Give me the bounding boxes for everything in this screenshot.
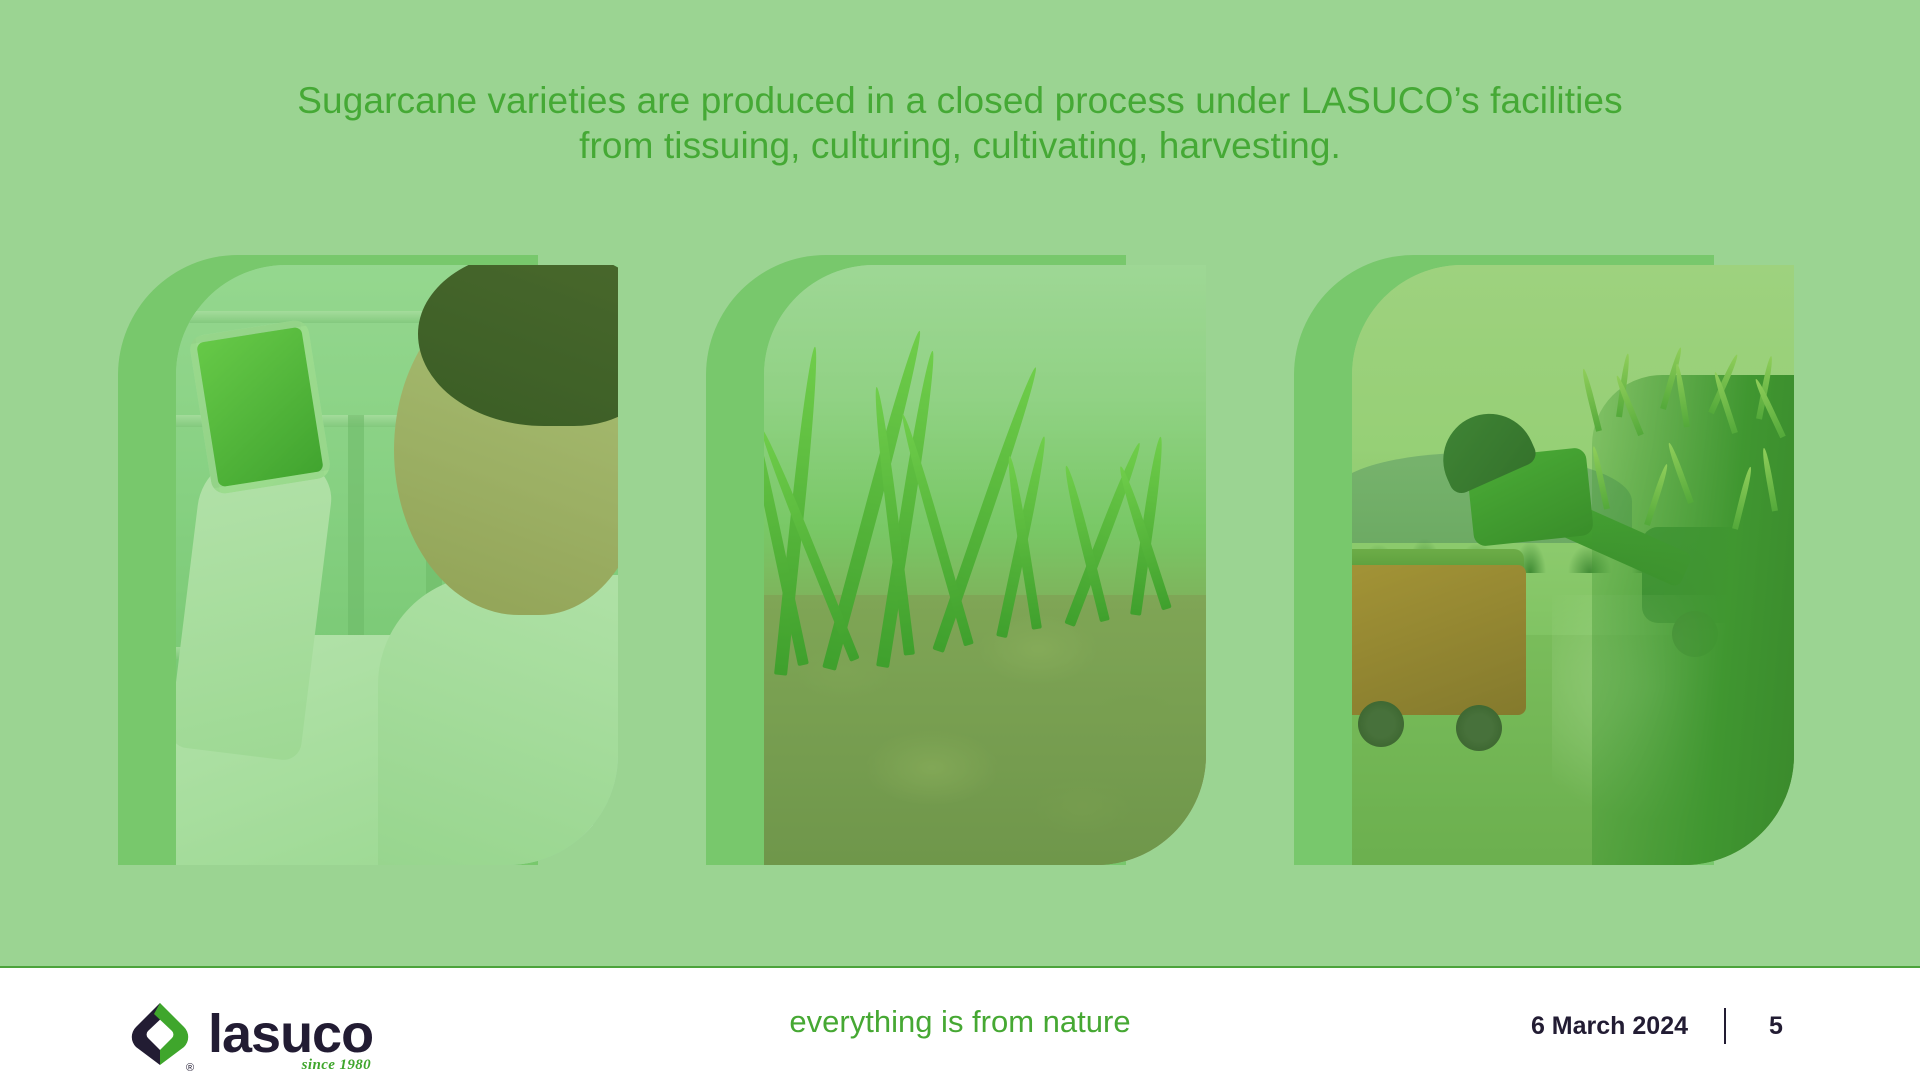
green-overlay-tint	[1352, 265, 1794, 865]
photo-harvesting	[1352, 265, 1794, 865]
image-card-tissuing[interactable]	[118, 255, 618, 865]
green-overlay-tint	[176, 265, 618, 865]
footer-date: 6 March 2024	[1531, 1012, 1688, 1041]
registered-mark: ®	[186, 1062, 194, 1074]
since-1980-label: since 1980	[302, 1057, 371, 1074]
page-number: 5	[1762, 1012, 1790, 1041]
page-title-line-1: Sugarcane varieties are produced in a cl…	[260, 78, 1660, 123]
image-card-harvesting[interactable]	[1294, 255, 1794, 865]
slide: Sugarcane varieties are produced in a cl…	[0, 0, 1920, 1080]
green-overlay-tint	[764, 265, 1206, 865]
page-title: Sugarcane varieties are produced in a cl…	[260, 78, 1660, 168]
footer-separator	[1724, 1008, 1726, 1044]
photo-tissuing	[176, 265, 618, 865]
image-card-row	[0, 255, 1920, 865]
image-card-cultivating[interactable]	[706, 255, 1206, 865]
slide-body: Sugarcane varieties are produced in a cl…	[0, 0, 1920, 968]
page-title-line-2: from tissuing, culturing, cultivating, h…	[260, 123, 1660, 168]
footer-meta: 6 March 2024 5	[1531, 1008, 1790, 1044]
photo-cultivating	[764, 265, 1206, 865]
